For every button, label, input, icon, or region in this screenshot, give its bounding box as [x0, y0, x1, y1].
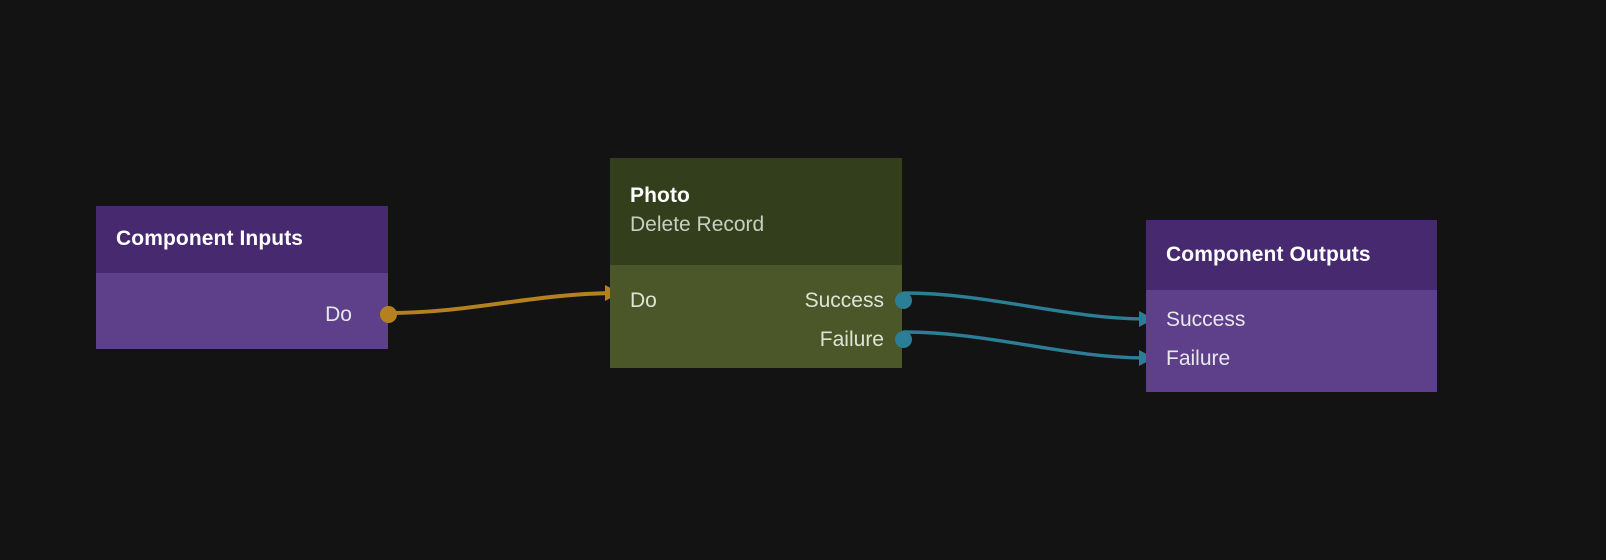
- port-label: Do: [630, 290, 657, 311]
- port-label: Failure: [820, 329, 884, 350]
- output-port-do[interactable]: Do: [325, 301, 352, 327]
- node-body: Do Success Failure: [610, 265, 902, 368]
- port-label: Failure: [1166, 348, 1230, 369]
- input-port-failure[interactable]: Failure: [1166, 345, 1230, 371]
- node-title: Photo: [630, 184, 902, 209]
- exec-port-dot[interactable]: [380, 306, 397, 323]
- port-label: Do: [325, 304, 352, 325]
- output-port-success[interactable]: Success: [805, 287, 884, 313]
- node-title: Component Inputs: [116, 227, 388, 252]
- input-port-success[interactable]: Success: [1166, 306, 1245, 332]
- input-port-do[interactable]: Do: [630, 287, 657, 313]
- node-subtitle: Delete Record: [630, 211, 902, 238]
- node-header: Component Inputs: [96, 206, 388, 273]
- node-header: Photo Delete Record: [610, 158, 902, 265]
- edge-success-to-success: [904, 293, 1154, 327]
- port-label: Success: [805, 290, 884, 311]
- edge-failure-to-failure: [904, 332, 1154, 366]
- data-port-dot-failure[interactable]: [895, 331, 912, 348]
- node-graph-canvas[interactable]: Component Inputs Do Photo Delete Record …: [0, 0, 1606, 560]
- node-header: Component Outputs: [1146, 220, 1437, 290]
- node-photo-delete-record[interactable]: Photo Delete Record Do Success Failure: [610, 158, 902, 368]
- edge-do-to-do: [389, 285, 620, 313]
- node-component-outputs[interactable]: Component Outputs Success Failure: [1146, 220, 1437, 392]
- node-title: Component Outputs: [1166, 243, 1437, 268]
- data-port-dot-success[interactable]: [895, 292, 912, 309]
- node-body: Success Failure: [1146, 290, 1437, 392]
- node-component-inputs[interactable]: Component Inputs Do: [96, 206, 388, 349]
- port-label: Success: [1166, 309, 1245, 330]
- output-port-failure[interactable]: Failure: [820, 326, 884, 352]
- node-body: Do: [96, 273, 388, 349]
